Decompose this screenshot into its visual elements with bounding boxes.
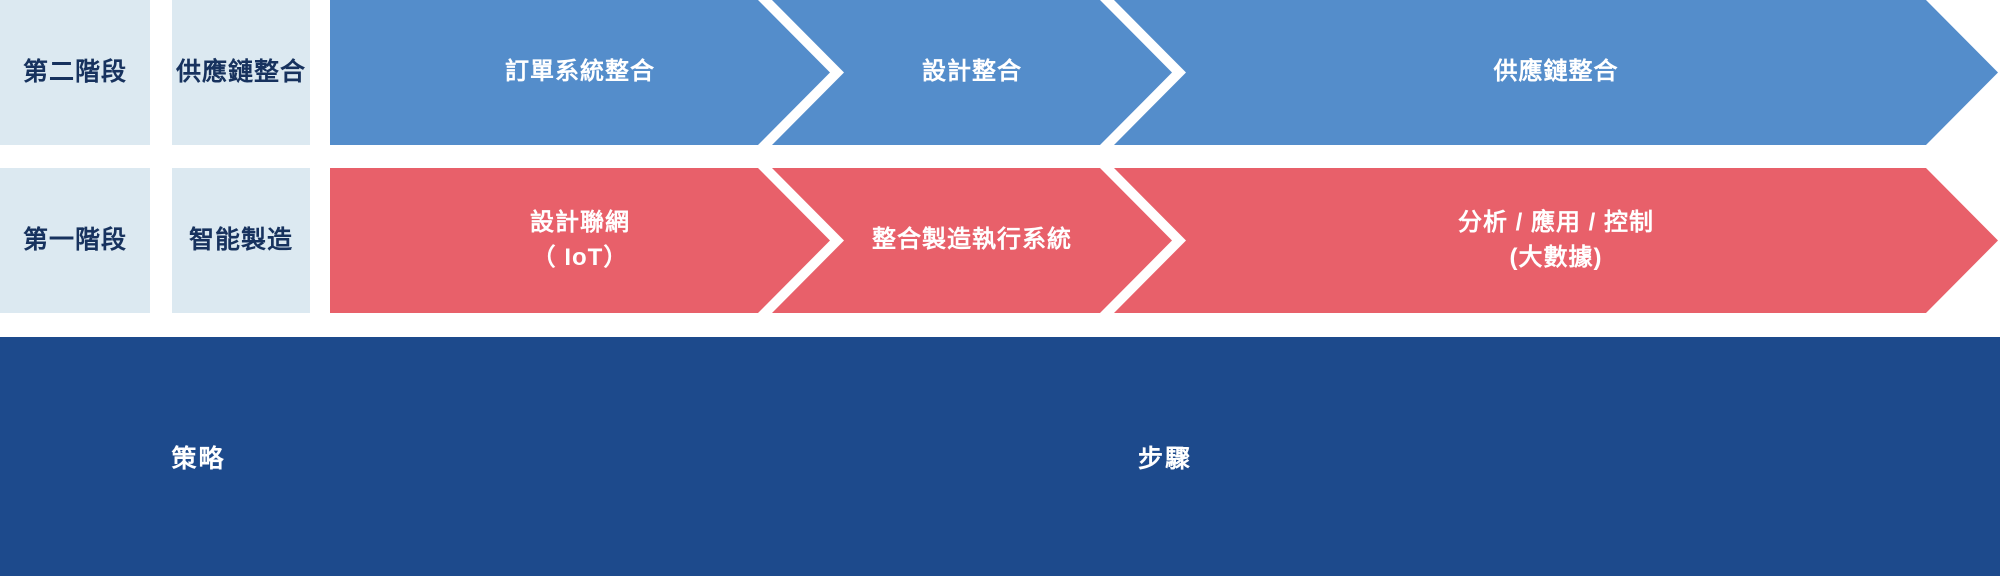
phase-1-step-1-label: 設計聯網 （ IoT） [520, 206, 640, 276]
phase-2-step-2-arrow[interactable]: 設計整合 [772, 0, 1172, 145]
footer-steps-label: 步驟 [1138, 439, 1192, 475]
phase-1-step-2-label: 整合製造執行系統 [862, 223, 1082, 258]
phase-1-theme-label-text: 智能製造 [189, 224, 293, 257]
phase-2-step-1-label: 訂單系統整合 [495, 55, 665, 90]
phase-2-theme-label-text: 供應鏈整合 [176, 56, 306, 89]
footer-steps-bar: 步驟 [330, 337, 2000, 576]
phase-2-theme-label-cell: 供應鏈整合 [172, 0, 310, 145]
phase-2-step-1-arrow[interactable]: 訂單系統整合 [330, 0, 830, 145]
phase-1-step-2-arrow[interactable]: 整合製造執行系統 [772, 168, 1172, 313]
phase-1-step-3-arrow[interactable]: 分析 / 應用 / 控制 (大數據) [1114, 168, 1998, 313]
phase-1-stage-label-text: 第一階段 [23, 224, 127, 257]
phase-2-step-3-arrow[interactable]: 供應鏈整合 [1114, 0, 1998, 145]
phase-1-stage-label-cell: 第一階段 [0, 168, 150, 313]
phase-2-step-2-label: 設計整合 [912, 55, 1032, 90]
phase-2-stage-label-text: 第二階段 [23, 56, 127, 89]
footer-strategy-label: 策略 [171, 439, 225, 475]
phase-1-step-1-arrow[interactable]: 設計聯網 （ IoT） [330, 168, 830, 313]
phase-1-theme-label-cell: 智能製造 [172, 168, 310, 313]
roadmap-diagram: 第二階段 供應鏈整合 訂單系統整合 設計整合 供應鏈整合 第一階段 智能製造 設… [0, 0, 2000, 576]
phase-2-step-3-label: 供應鏈整合 [1484, 55, 1629, 90]
phase-2-stage-label-cell: 第二階段 [0, 0, 150, 145]
phase-1-step-3-label: 分析 / 應用 / 控制 (大數據) [1448, 206, 1664, 276]
